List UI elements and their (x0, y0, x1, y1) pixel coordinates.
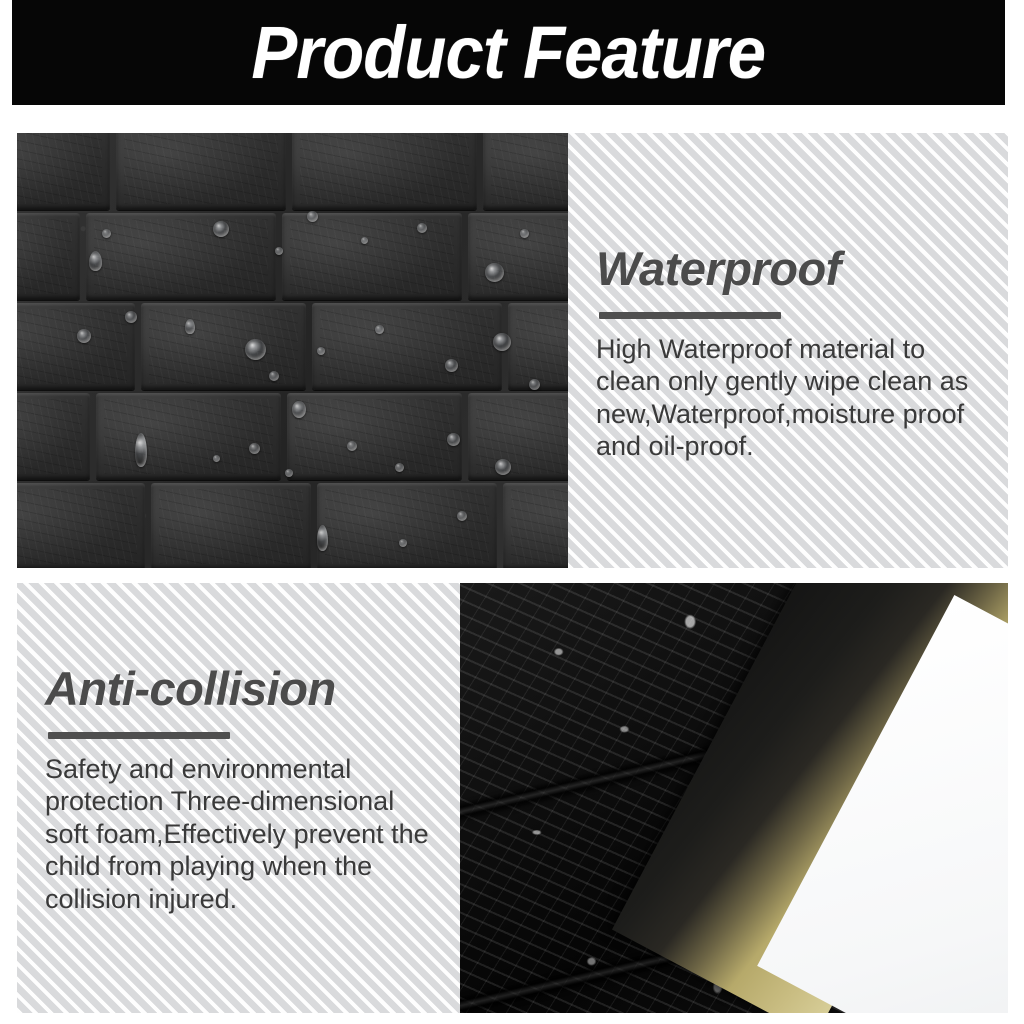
anti-collision-heading: Anti-collision (45, 665, 440, 713)
anti-collision-info-panel: Anti-collision Safety and environmental … (17, 583, 460, 1013)
waterproof-info-panel: Waterproof High Waterproof material to c… (568, 133, 1008, 568)
product-feature-page: Product Feature (0, 0, 1024, 1024)
waterproof-heading: Waterproof (596, 245, 990, 293)
feature-row-waterproof: Waterproof High Waterproof material to c… (17, 133, 1008, 568)
anti-collision-description: Safety and environmental protection Thre… (45, 753, 440, 916)
brick-wall-texture (17, 133, 568, 568)
waterproof-title-rule (599, 312, 781, 319)
feature-row-anti-collision: Anti-collision Safety and environmental … (17, 583, 1008, 1013)
waterproof-photo (17, 133, 568, 568)
page-title: Product Feature (252, 16, 766, 90)
header-banner: Product Feature (12, 0, 1005, 105)
anti-collision-photo (460, 583, 1008, 1013)
anti-collision-title-rule (48, 732, 230, 739)
waterproof-description: High Waterproof material to clean only g… (596, 333, 990, 463)
